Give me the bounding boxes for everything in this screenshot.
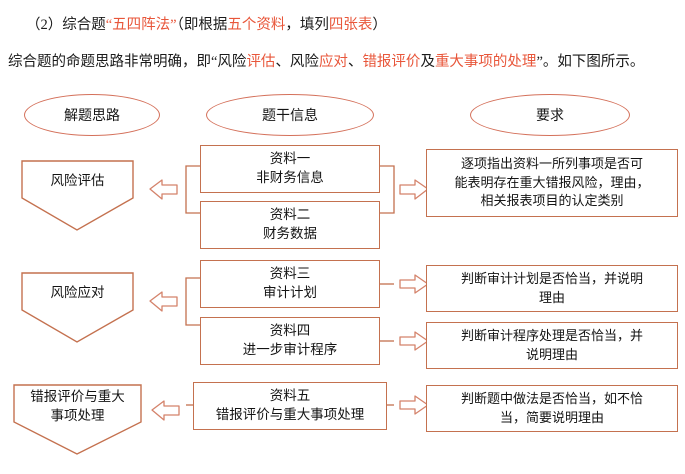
- left-node-risk-assessment-label: 风险评估: [22, 172, 133, 190]
- right-box-requirement-3-line2: 说明理由: [526, 346, 578, 364]
- paragraph-one: （2）综合题“五四阵法”（即根据五个资料，填列四张表）: [26, 13, 387, 34]
- right-box-requirement-3[interactable]: 判断审计程序处理是否恰当，并 说明理由: [426, 322, 678, 369]
- paragraph-two-segment-0: 综合题的命题思路非常明确，即“风险: [8, 54, 246, 70]
- left-node-misstatement-label-line2: 事项处理: [14, 407, 141, 425]
- paragraph-two-segment-6: 及: [420, 54, 435, 70]
- paragraph-one-segment-4: ，填列: [285, 17, 329, 33]
- left-node-risk-response[interactable]: 风险应对: [22, 273, 133, 313]
- right-box-requirement-1-line1: 逐项指出资料一所列事项是否可: [461, 155, 643, 173]
- left-node-misstatement-label-line1: 错报评价与重大: [14, 388, 141, 406]
- paragraph-one-segment-0: （2）综合题: [26, 17, 106, 33]
- right-box-requirement-1-line2: 能表明存在重大错报风险，理由，: [454, 174, 649, 192]
- right-box-requirement-1[interactable]: 逐项指出资料一所列事项是否可 能表明存在重大错报风险，理由， 相关报表项目的认定…: [426, 149, 678, 217]
- right-box-requirement-2-line1: 判断审计计划是否恰当，并说明: [461, 270, 643, 288]
- paragraph-two-segment-2: 、风险: [275, 54, 319, 70]
- middle-box-material-5-line1: 资料五: [270, 387, 311, 406]
- middle-box-material-5[interactable]: 资料五 错报评价与重大事项处理: [193, 382, 387, 430]
- left-node-misstatement[interactable]: 错报评价与重大 事项处理: [14, 385, 141, 437]
- right-box-requirement-4-line2: 当，简要说明理由: [500, 409, 604, 427]
- right-box-requirement-3-line1: 判断审计程序处理是否恰当，并: [461, 327, 643, 345]
- paragraph-two-segment-8: ”。如下图所示。: [536, 54, 644, 70]
- right-box-requirement-4[interactable]: 判断题中做法是否恰当，如不恰 当，简要说明理由: [426, 385, 678, 432]
- arrow-left-to-misstatement[interactable]: [152, 401, 179, 420]
- arrow-left-to-risk-response[interactable]: [150, 292, 177, 311]
- middle-box-material-1[interactable]: 资料一 非财务信息: [200, 145, 380, 193]
- paragraph-two-segment-7: 重大事项的处理: [435, 54, 537, 70]
- right-box-requirement-2[interactable]: 判断审计计划是否恰当，并说明 理由: [426, 265, 678, 312]
- middle-box-material-4-line1: 资料四: [270, 322, 311, 341]
- middle-box-material-2-line1: 资料二: [270, 206, 311, 225]
- paragraph-two-segment-3: 应对: [319, 54, 348, 70]
- right-box-requirement-2-line2: 理由: [539, 289, 565, 307]
- flowchart: 解题思路 题干信息 要求 风险评估 风险应对 错报评价与重大 事项处理 资料一 …: [0, 88, 685, 474]
- arrow-right-to-requirement-4[interactable]: [400, 396, 428, 414]
- middle-box-material-1-line2: 非财务信息: [256, 169, 324, 188]
- middle-box-material-3-line2: 审计计划: [263, 284, 317, 303]
- arrow-right-to-requirement-1[interactable]: [400, 180, 428, 199]
- bracket-left-group-1: [186, 166, 200, 213]
- middle-box-material-4[interactable]: 资料四 进一步审计程序: [200, 317, 380, 365]
- left-node-risk-response-label: 风险应对: [22, 284, 133, 302]
- paragraph-two-segment-4: 、: [348, 54, 363, 70]
- page-root: （2）综合题“五四阵法”（即根据五个资料，填列四张表） 综合题的命题思路非常明确…: [0, 0, 685, 474]
- left-node-risk-assessment[interactable]: 风险评估: [22, 161, 133, 201]
- right-box-requirement-1-line3: 相关报表项目的认定类别: [480, 192, 623, 210]
- paragraph-one-segment-1: “五四阵法”: [106, 17, 177, 33]
- right-box-requirement-4-line1: 判断题中做法是否恰当，如不恰: [461, 390, 643, 408]
- arrow-right-to-requirement-3[interactable]: [400, 332, 428, 350]
- paragraph-two-segment-5: 错报评价: [362, 54, 420, 70]
- middle-box-material-5-line2: 错报评价与重大事项处理: [216, 406, 365, 425]
- middle-box-material-2[interactable]: 资料二 财务数据: [200, 201, 380, 249]
- paragraph-one-segment-6: ）: [372, 17, 387, 33]
- paragraph-one-segment-5: 四张表: [329, 17, 373, 33]
- middle-box-material-4-line2: 进一步审计程序: [243, 341, 338, 360]
- middle-box-material-1-line1: 资料一: [270, 150, 311, 169]
- arrow-left-to-risk-assessment[interactable]: [150, 180, 177, 199]
- paragraph-two: 综合题的命题思路非常明确，即“风险评估、风险应对、错报评价及重大事项的处理”。如…: [8, 50, 644, 71]
- arrow-right-to-requirement-2[interactable]: [400, 275, 428, 293]
- bracket-right-group-1: [380, 166, 394, 213]
- middle-box-material-2-line2: 财务数据: [263, 225, 317, 244]
- paragraph-one-segment-3: 五个资料: [227, 17, 285, 33]
- paragraph-two-segment-1: 评估: [246, 54, 275, 70]
- middle-box-material-3-line1: 资料三: [270, 265, 311, 284]
- bracket-left-group-2: [186, 278, 200, 325]
- paragraph-one-segment-2: （即根据: [177, 17, 228, 33]
- middle-box-material-3[interactable]: 资料三 审计计划: [200, 260, 380, 308]
